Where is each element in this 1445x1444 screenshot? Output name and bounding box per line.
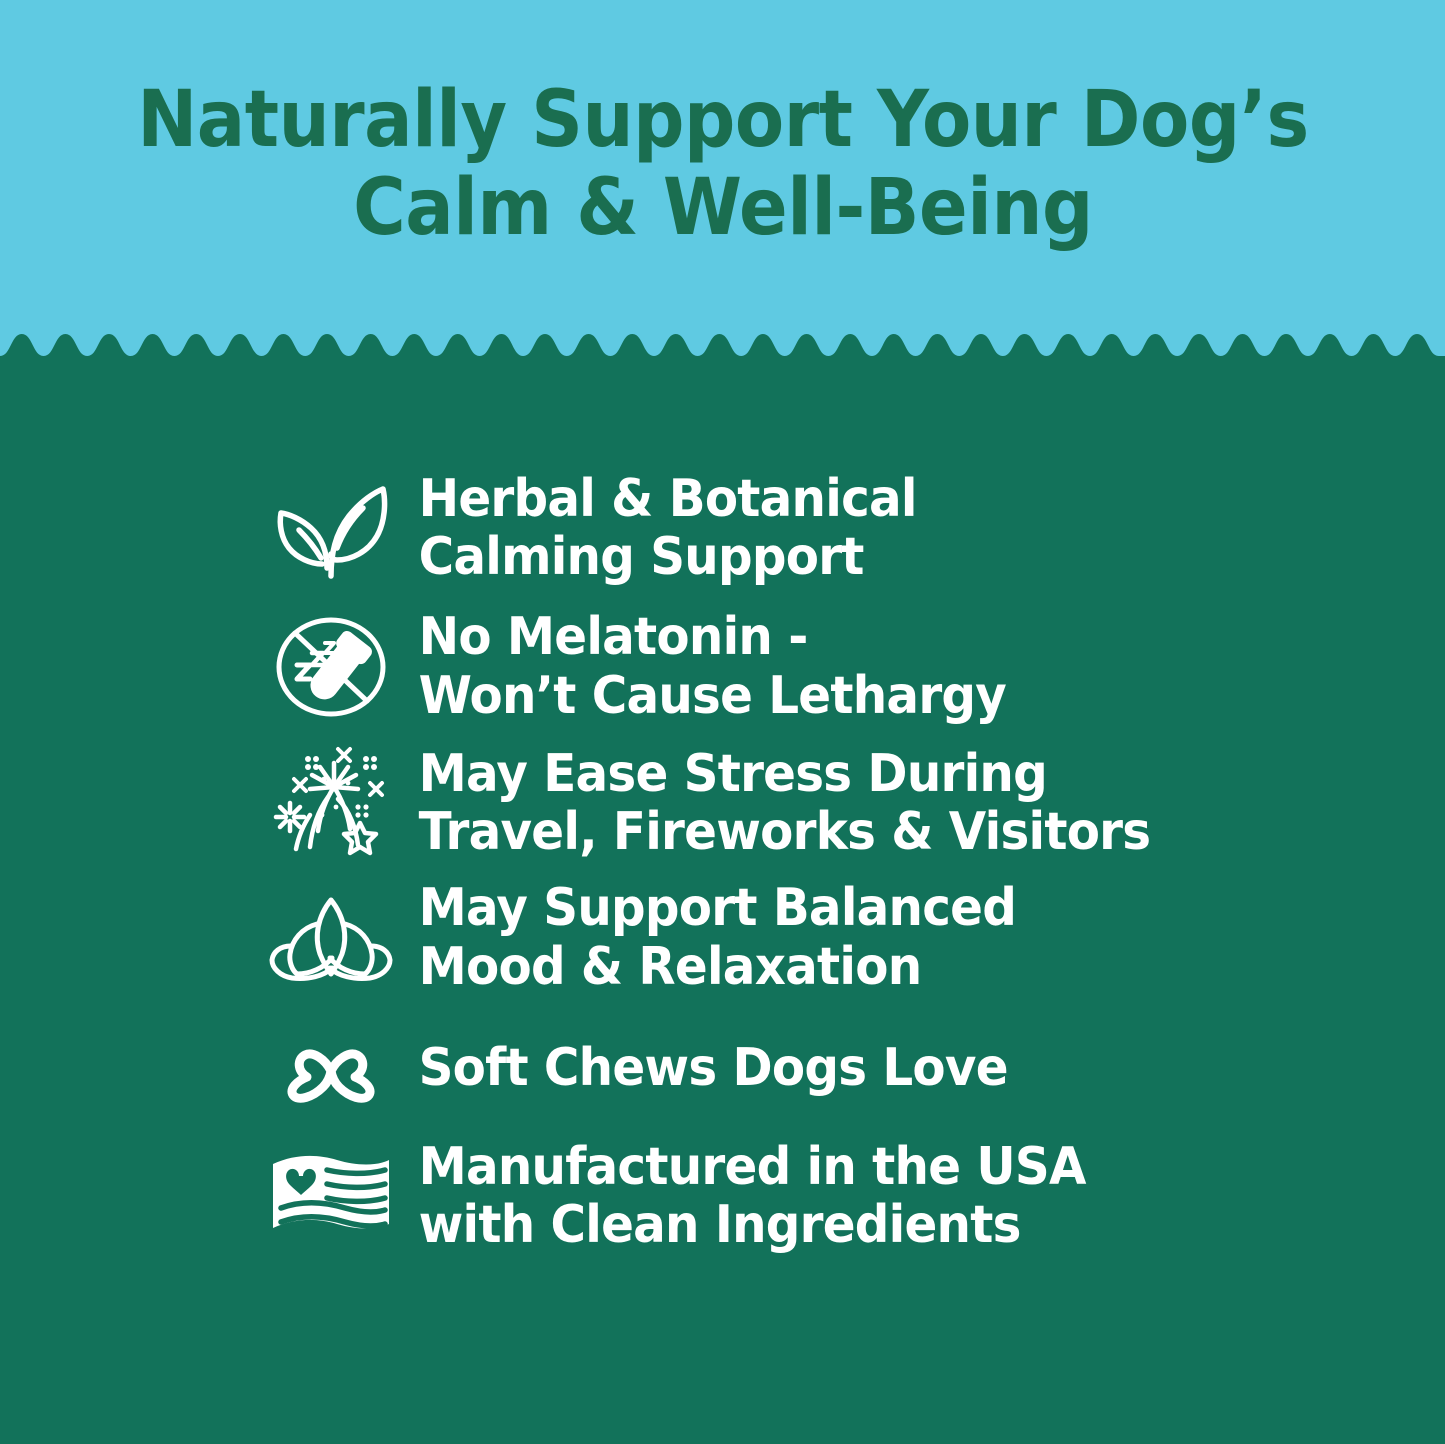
feature-row: No Melatonin - Won’t Cause Lethargy — [0, 608, 1445, 724]
feature-line-1: Soft Chews Dogs Love — [419, 1039, 1372, 1097]
feature-line-2: Mood & Relaxation — [419, 938, 1372, 996]
feature-line-2: Calming Support — [419, 528, 1372, 586]
feature-row: Soft Chews Dogs Love — [0, 1010, 1445, 1126]
feature-row: May Support Balanced Mood & Relaxation — [0, 879, 1445, 995]
feature-text: Manufactured in the USA with Clean Ingre… — [400, 1138, 1372, 1254]
feature-text: Herbal & Botanical Calming Support — [400, 470, 1372, 586]
feature-line-1: Herbal & Botanical — [419, 470, 1372, 528]
feature-text: Soft Chews Dogs Love — [400, 1039, 1372, 1097]
feature-row: Manufactured in the USA with Clean Ingre… — [0, 1138, 1445, 1254]
feature-row: Herbal & Botanical Calming Support — [0, 470, 1445, 586]
headline-line-2: Calm & Well-Being — [115, 166, 1329, 250]
no-melatonin-pill-bottle-zzz-icon — [262, 609, 400, 725]
header-band: Naturally Support Your Dog’s Calm & Well… — [0, 0, 1445, 372]
feature-text: No Melatonin - Won’t Cause Lethargy — [400, 608, 1372, 724]
feature-line-2: Won’t Cause Lethargy — [419, 667, 1372, 725]
heart-bone-chew-icon — [262, 1010, 400, 1126]
feature-text: May Ease Stress During Travel, Fireworks… — [400, 745, 1372, 861]
usa-flag-heart-icon — [262, 1138, 400, 1254]
headline-line-1: Naturally Support Your Dog’s — [115, 78, 1329, 162]
feature-row: May Ease Stress During Travel, Fireworks… — [0, 745, 1445, 861]
feature-list: Herbal & Botanical Calming Support — [0, 400, 1445, 1254]
product-benefits-infographic: Naturally Support Your Dog’s Calm & Well… — [0, 0, 1445, 1444]
feature-line-2: with Clean Ingredients — [419, 1196, 1372, 1254]
feature-line-1: May Support Balanced — [419, 879, 1372, 937]
page-title: Naturally Support Your Dog’s Calm & Well… — [115, 78, 1329, 250]
lotus-flower-icon — [262, 880, 400, 996]
feature-line-1: Manufactured in the USA — [419, 1138, 1372, 1196]
feature-line-2: Travel, Fireworks & Visitors — [419, 803, 1372, 861]
feature-line-1: No Melatonin - — [419, 608, 1372, 666]
fireworks-icon — [262, 745, 400, 861]
feature-text: May Support Balanced Mood & Relaxation — [400, 879, 1372, 995]
two-leaves-icon — [262, 470, 400, 586]
wavy-divider — [0, 330, 1445, 400]
feature-line-1: May Ease Stress During — [419, 745, 1372, 803]
